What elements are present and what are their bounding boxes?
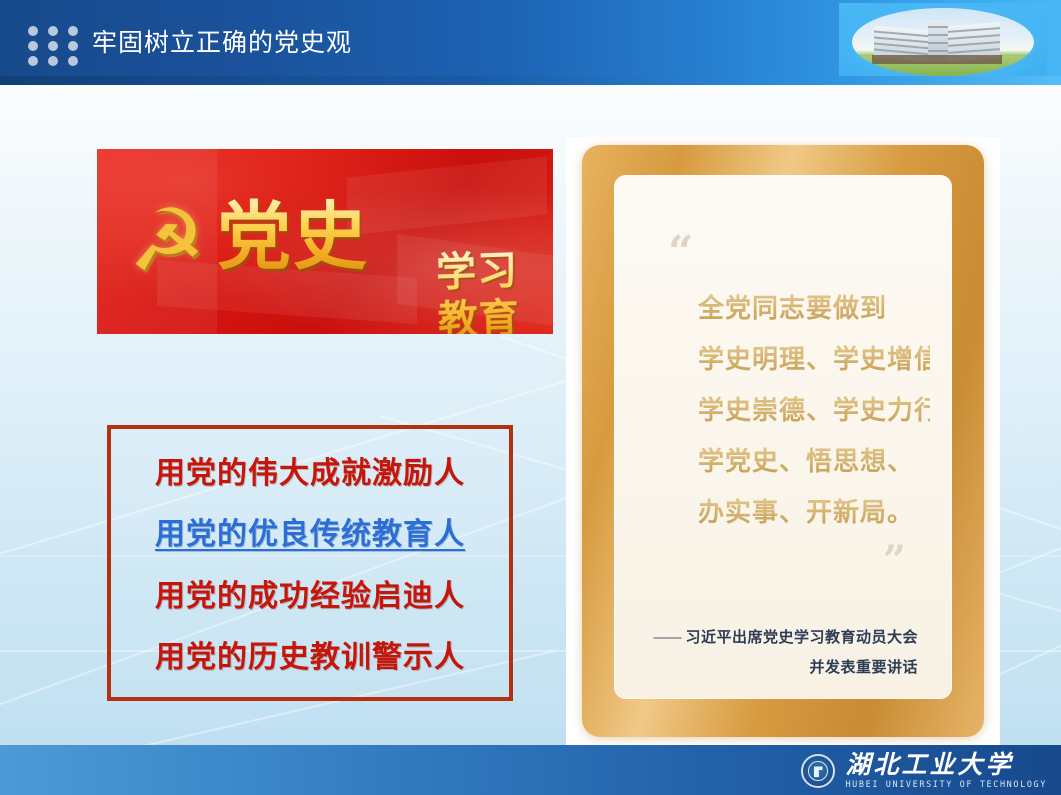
close-quote-icon: ” [883, 543, 906, 579]
quote-line: 全党同志要做到 [698, 283, 930, 334]
quote-text-block: 全党同志要做到 学史明理、学史增信、 学史崇德、学史力行， 学党史、悟思想、 办… [698, 283, 930, 538]
slide-header: 牢固树立正确的党史观 [0, 0, 1061, 85]
campus-photo-badge [839, 3, 1047, 81]
attribution-line-1: 习近平出席党史学习教育动员大会 [685, 629, 918, 646]
quote-card-image: “ 全党同志要做到 学史明理、学史增信、 学史崇德、学史力行， 学党史、悟思想、… [566, 137, 1000, 745]
attribution-dash: —— [653, 629, 679, 646]
open-quote-icon: “ [668, 233, 693, 273]
slide-footer: 湖北工业大学 HUBEI UNIVERSITY OF TECHNOLOGY [0, 745, 1061, 795]
quote-line: 学史崇德、学史力行， [698, 385, 930, 436]
party-history-banner-image: ☭ 党史 学习教育 [97, 149, 553, 334]
university-name-en: HUBEI UNIVERSITY OF TECHNOLOGY [845, 781, 1047, 790]
grid-dots-icon [28, 26, 82, 62]
slogan-list-box: 用党的伟大成就激励人 用党的优良传统教育人 用党的成功经验启迪人 用党的历史教训… [107, 425, 513, 701]
quote-attribution: ——习近平出席党史学习教育动员大会 并发表重要讲话 [614, 623, 918, 683]
quote-line: 学党史、悟思想、 [698, 436, 930, 487]
banner-sub-text: 学习教育 [435, 245, 553, 334]
page-title: 牢固树立正确的党史观 [92, 22, 352, 64]
slide-root: 牢固树立正确的党史观 ☭ 党史 学习教 [0, 0, 1061, 795]
cpc-hammer-sickle-emblem-icon: ☭ [115, 191, 219, 291]
banner-main-text: 党史 [217, 193, 369, 281]
quote-card-gold-frame: “ 全党同志要做到 学史明理、学史增信、 学史崇德、学史力行， 学党史、悟思想、… [582, 145, 984, 737]
list-item: 用党的成功经验启迪人 [111, 571, 509, 615]
quote-card-inner: “ 全党同志要做到 学史明理、学史增信、 学史崇德、学史力行， 学党史、悟思想、… [614, 175, 952, 699]
university-logo: 湖北工业大学 HUBEI UNIVERSITY OF TECHNOLOGY [801, 751, 1047, 791]
campus-photo [852, 8, 1034, 76]
list-item: 用党的伟大成就激励人 [111, 448, 509, 492]
quote-line: 学史明理、学史增信、 [698, 334, 930, 385]
attribution-line-2: 并发表重要讲话 [614, 653, 918, 683]
list-item-link[interactable]: 用党的优良传统教育人 [111, 509, 509, 553]
quote-line: 办实事、开新局。 [698, 487, 930, 538]
university-name-cn: 湖北工业大学 [845, 753, 1047, 778]
list-item: 用党的历史教训警示人 [111, 632, 509, 676]
university-seal-icon [801, 754, 835, 788]
